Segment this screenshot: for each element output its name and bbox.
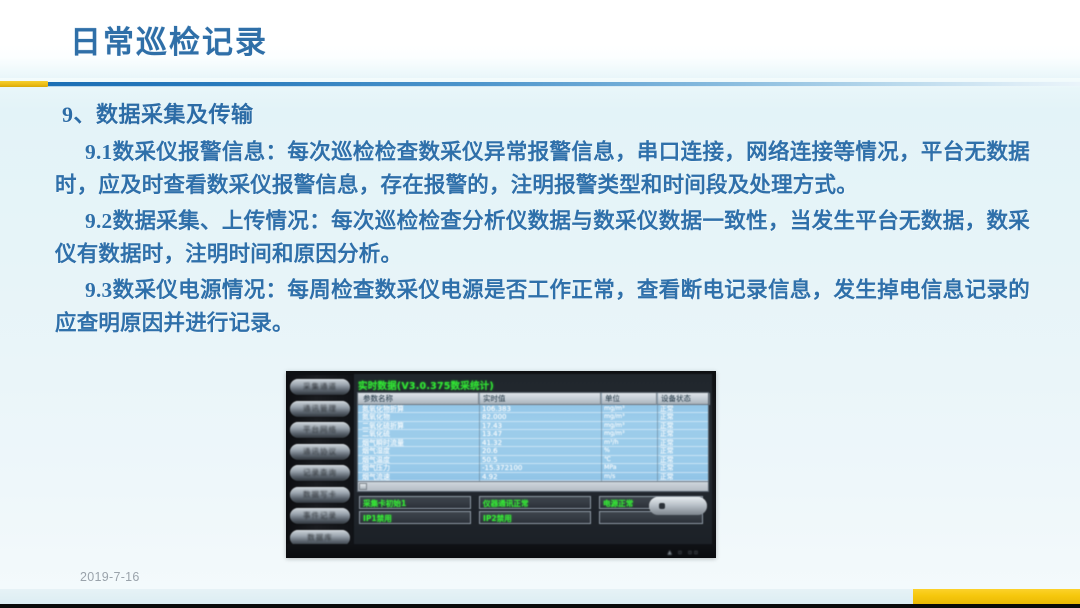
table-body: 氮氧化物折算106.383mg/m³正常氮氧化物82.000mg/m³正常二氧化…	[358, 405, 708, 481]
table-cell: 50.5	[480, 456, 600, 464]
table-cell: m³/h	[602, 439, 654, 447]
device-menu-button[interactable]: 通讯管理	[290, 401, 350, 417]
table-cell: mg/m³	[602, 413, 654, 421]
device-menu-button-label: 采集通道	[290, 379, 350, 395]
device-menu-button-label: 数据写卡	[290, 487, 350, 503]
knob-indicator	[659, 503, 665, 509]
header-divider	[0, 80, 1080, 88]
device-status-button[interactable]: 仪器通讯正常	[479, 496, 591, 509]
table-column-header: 设备状态	[658, 393, 710, 405]
footer-gold-accent	[913, 589, 1080, 604]
column-separator	[479, 393, 480, 481]
scroll-left-arrow[interactable]	[359, 483, 367, 490]
divider-blue-shadow	[48, 86, 1080, 88]
device-status-button[interactable]: IP2禁用	[479, 511, 591, 524]
table-cell: 烟气瞬时流量	[360, 439, 478, 447]
table-cell: mg/m³	[602, 422, 654, 430]
device-status-label: IP1禁用	[360, 512, 470, 524]
device-status-label: 仪器通讯正常	[480, 497, 590, 509]
table-row[interactable]: 烟气温度50.5℃正常	[358, 456, 708, 464]
table-cell: 正常	[658, 405, 710, 413]
paragraph-9-1: 9.1数采仪报警信息：每次巡检检查数采仪异常报警信息，串口连接，网络连接等情况，…	[55, 136, 1030, 202]
table-cell: %	[602, 447, 654, 455]
table-cell: 烟气流速	[360, 473, 478, 481]
device-status-label: IP2禁用	[480, 512, 590, 524]
table-cell: 烟气温度	[360, 456, 478, 464]
column-separator	[657, 393, 658, 481]
device-menu-button-label: 通讯协议	[290, 444, 350, 460]
table-row[interactable]: 氮氧化物82.000mg/m³正常	[358, 413, 708, 421]
table-row[interactable]: 烟气压力-15.372100MPa正常	[358, 464, 708, 472]
table-cell: -15.372100	[480, 464, 600, 472]
paragraph-9-2: 9.2数据采集、上传情况：每次巡检检查分析仪数据与数采仪数据一致性，当发生平台无…	[55, 205, 1030, 271]
table-cell: mg/m³	[602, 405, 654, 413]
table-row[interactable]: 烟气流速4.92m/s正常	[358, 473, 708, 481]
realtime-data-window: 实时数据(V3.0.375数采统计) 参数名称实时值单位设备状态 氮氧化物折算1…	[354, 374, 712, 552]
table-row[interactable]: 二氧化硫折算17.43mg/m³正常	[358, 422, 708, 430]
table-cell: 氮氧化物	[360, 413, 478, 421]
footer-date: 2019-7-16	[80, 570, 140, 584]
device-menu-button[interactable]: 采集通道	[290, 379, 350, 395]
slide-canvas: 日常巡检记录 9、数据采集及传输 9.1数采仪报警信息：每次巡检检查数采仪异常报…	[0, 0, 1080, 608]
device-status-button[interactable]: 采集卡初始1	[359, 496, 471, 509]
footer-strip	[0, 589, 913, 604]
table-horizontal-scrollbar[interactable]	[358, 481, 708, 491]
device-menu-button-label: 通讯管理	[290, 401, 350, 417]
paragraph-9-3: 9.3数采仪电源情况：每周检查数采仪电源是否工作正常，查看断电记录信息，发生掉电…	[55, 274, 1030, 340]
table-header-row: 参数名称实时值单位设备状态	[358, 393, 708, 405]
device-status-label: 采集卡初始1	[360, 497, 470, 509]
table-cell: 正常	[658, 464, 710, 472]
table-cell: 二氧化硫折算	[360, 422, 478, 430]
page-title: 日常巡检记录	[70, 17, 268, 62]
device-status-button[interactable]: IP1禁用	[359, 511, 471, 524]
table-cell: 烟气湿度	[360, 447, 478, 455]
table-cell: 二氧化硫	[360, 430, 478, 438]
table-row[interactable]: 二氧化硫13.47mg/m³正常	[358, 430, 708, 438]
table-cell: 4.92	[480, 473, 600, 481]
section-heading: 9、数据采集及传输	[62, 97, 254, 129]
device-menu-button[interactable]: 记录查询	[290, 465, 350, 481]
device-menu-strip: 采集通道通讯管理平台网络通讯协议记录查询数据写卡事件记录数据库	[286, 375, 354, 555]
table-column-header: 参数名称	[360, 393, 479, 405]
table-cell: MPa	[602, 464, 654, 472]
table-cell: 82.000	[480, 413, 600, 421]
table-cell: 正常	[658, 447, 710, 455]
footer-baseline	[0, 604, 1080, 608]
cems-screen-photo: 采集通道通讯管理平台网络通讯协议记录查询数据写卡事件记录数据库 实时数据(V3.…	[286, 371, 716, 558]
table-row[interactable]: 烟气瞬时流量41.32m³/h正常	[358, 439, 708, 447]
device-menu-button[interactable]: 通讯协议	[290, 444, 350, 460]
table-cell: 烟气压力	[360, 464, 478, 472]
table-cell: mg/m³	[602, 430, 654, 438]
table-cell: 13.47	[480, 430, 600, 438]
table-cell: 正常	[658, 456, 710, 464]
table-cell: 正常	[658, 430, 710, 438]
bezel-marks: ▲ ▫ ▫▫	[667, 549, 700, 556]
device-menu-button[interactable]: 事件记录	[290, 508, 350, 524]
table-cell: 正常	[658, 439, 710, 447]
table-cell: 氮氧化物折算	[360, 405, 478, 413]
table-cell: ℃	[602, 456, 654, 464]
device-menu-button[interactable]: 平台网络	[290, 422, 350, 438]
device-menu-button-label: 平台网络	[290, 422, 350, 438]
realtime-data-table: 参数名称实时值单位设备状态 氮氧化物折算106.383mg/m³正常氮氧化物82…	[357, 392, 709, 492]
table-column-header: 实时值	[480, 393, 601, 405]
column-separator	[601, 393, 602, 481]
slide-header: 日常巡检记录	[0, 0, 1080, 78]
table-column-header: 单位	[602, 393, 657, 405]
status-button-bank: IP2禁用IP1禁用电源正常仪器通讯正常采集卡初始1	[357, 496, 709, 532]
device-menu-button[interactable]: 数据写卡	[290, 487, 350, 503]
device-menu-button-label: 事件记录	[290, 508, 350, 524]
table-cell: 17.43	[480, 422, 600, 430]
table-row[interactable]: 烟气湿度20.6%正常	[358, 447, 708, 455]
device-knob[interactable]	[649, 497, 707, 515]
table-row[interactable]: 氮氧化物折算106.383mg/m³正常	[358, 405, 708, 413]
table-cell: 正常	[658, 422, 710, 430]
device-menu-button-label: 记录查询	[290, 465, 350, 481]
table-cell: 41.32	[480, 439, 600, 447]
table-cell: 20.6	[480, 447, 600, 455]
photo-bottom-bezel: ▲ ▫ ▫▫	[286, 544, 716, 558]
table-cell: 106.383	[480, 405, 600, 413]
table-cell: m/s	[602, 473, 654, 481]
table-cell: 正常	[658, 413, 710, 421]
divider-gold-accent	[0, 81, 48, 87]
table-cell: 正常	[658, 473, 710, 481]
window-title: 实时数据(V3.0.375数采统计)	[358, 378, 494, 392]
